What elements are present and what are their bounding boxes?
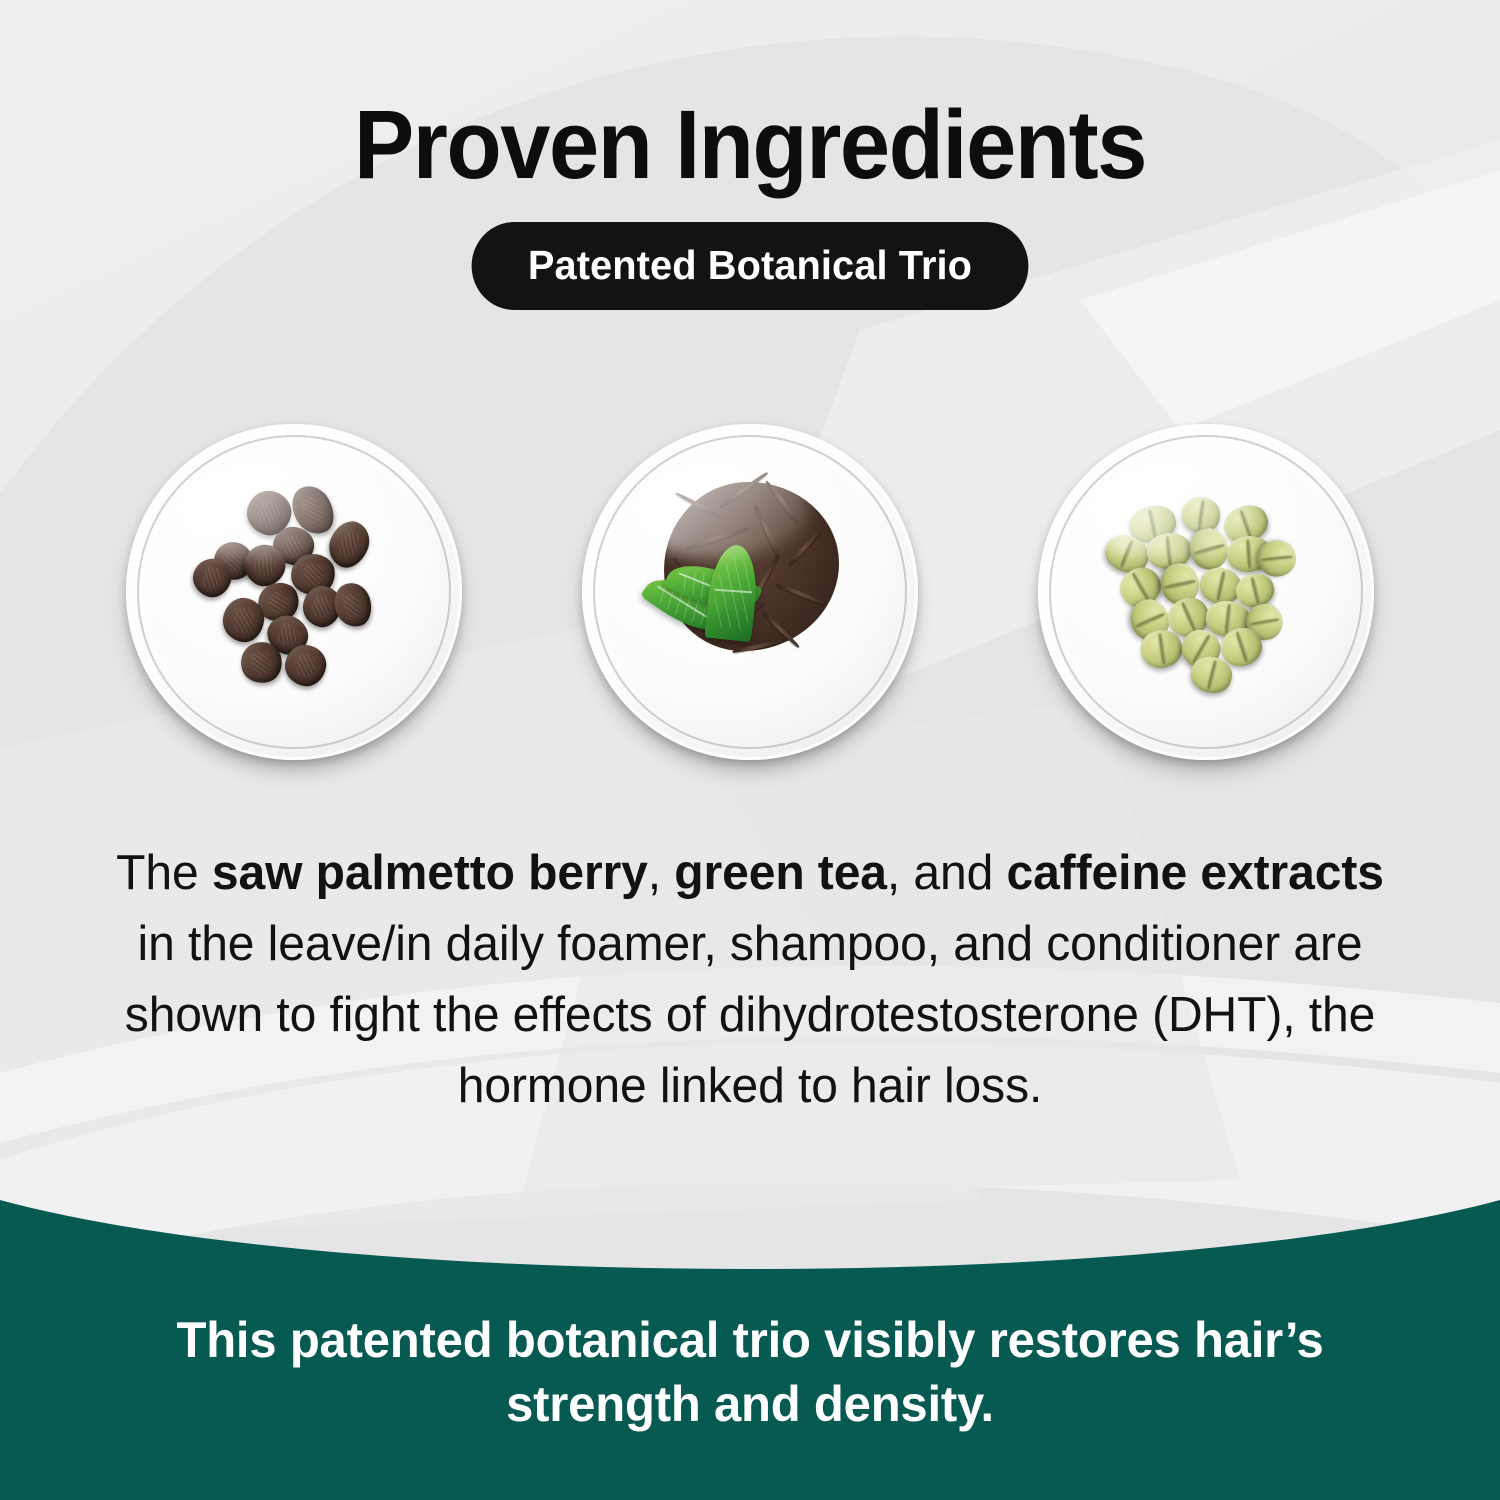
dish-inner-rim [593,435,907,749]
ingredient-caffeine-emphasis: caffeine extracts [1006,846,1383,900]
proven-ingredients-poster: Proven Ingredients Patented Botanical Tr… [0,0,1500,1500]
ingredient-saw-palmetto-emphasis: saw palmetto berry [212,846,648,900]
footer-banner: This patented botanical trio visibly res… [0,1200,1500,1500]
dish-inner-rim [137,435,451,749]
body-text-g: in the leave/in daily foamer, shampoo, a… [125,917,1375,1113]
footer-headline: This patented botanical trio visibly res… [123,1308,1377,1436]
patented-botanical-trio-badge: Patented Botanical Trio [472,222,1029,310]
ingredient-green-tea-emphasis: green tea [674,846,887,900]
body-text-c: , [648,846,674,900]
body-paragraph: The saw palmetto berry, green tea, and c… [99,838,1400,1122]
header: Proven Ingredients Patented Botanical Tr… [0,0,1500,310]
ingredient-dishes-row [0,424,1500,764]
badge-container: Patented Botanical Trio [0,222,1500,310]
dish-inner-rim [1049,435,1363,749]
petri-dish-saw-palmetto-berry [126,424,462,760]
body-text-e: , and [887,846,1007,900]
petri-dish-green-tea [582,424,918,760]
body-text-a: The [116,846,212,900]
page-title: Proven Ingredients [53,96,1448,195]
petri-dish-green-coffee-bean [1038,424,1374,760]
